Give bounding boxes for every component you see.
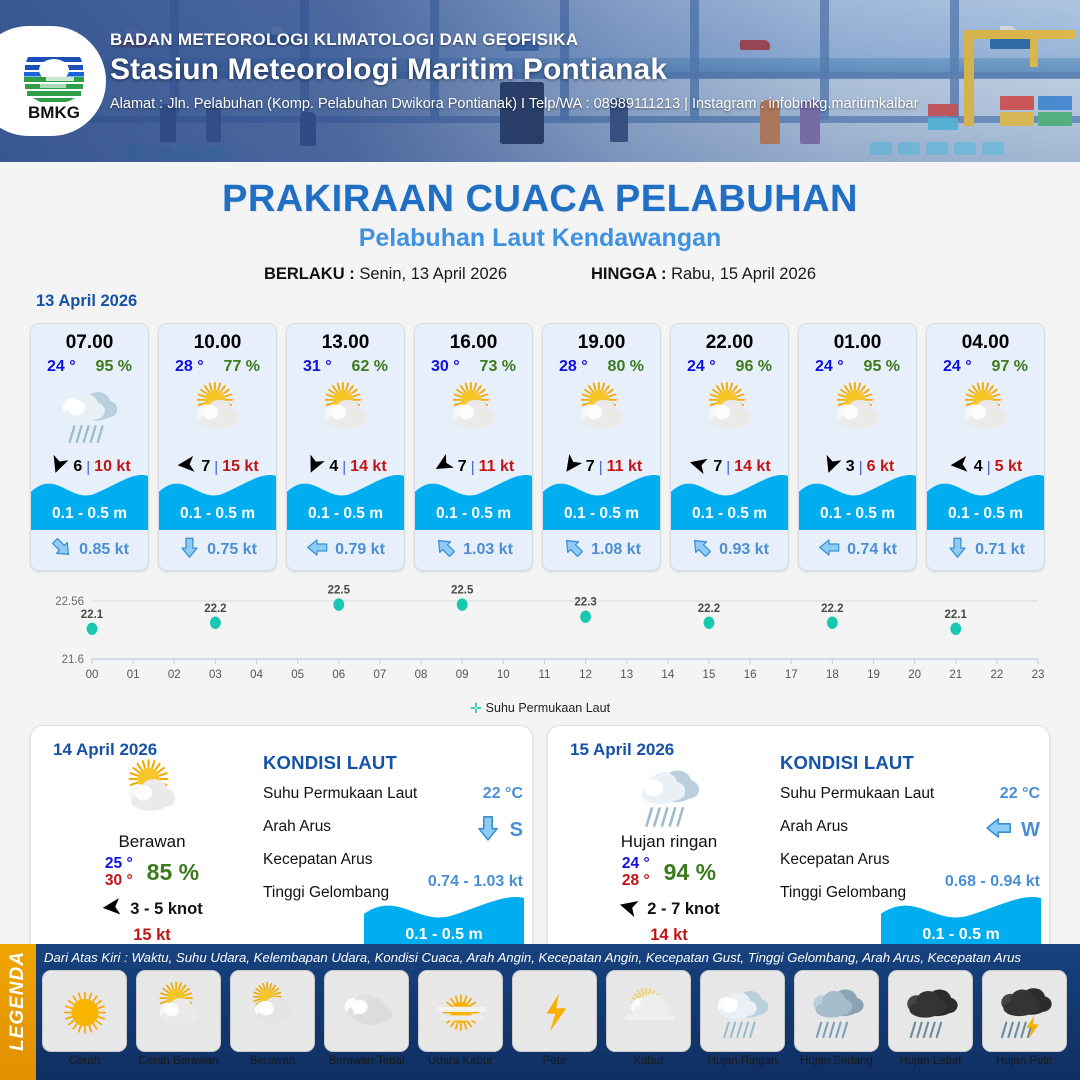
- legend-item-label: Udara Kabur: [418, 1055, 503, 1067]
- day-condition: Berawan: [47, 832, 257, 852]
- card-temperature: 24 °: [47, 358, 76, 376]
- sea-row-label: Arah Arus: [780, 818, 848, 835]
- sea-row-value: 22 °C: [483, 785, 523, 803]
- legend-item-icon: [700, 970, 785, 1052]
- svg-text:22.56: 22.56: [55, 596, 84, 608]
- day-wind: 3 - 5 knot: [47, 896, 257, 923]
- card-wave-height: 0.1 - 0.5 m: [927, 505, 1044, 523]
- card-current: 0.85 kt: [31, 536, 148, 564]
- day-wave-height: 0.1 - 0.5 m: [364, 926, 524, 944]
- sea-conditions-title: KONDISI LAUT: [263, 752, 525, 774]
- hingga-group: HINGGA : Rabu, 15 April 2026: [591, 265, 816, 284]
- legend-item-icon: [418, 970, 503, 1052]
- card-wave: 0.1 - 0.5 m: [415, 464, 532, 530]
- card-weather-icon: [543, 378, 660, 450]
- card-current: 0.79 kt: [287, 536, 404, 564]
- day-wave-block: 0.1 - 0.5 m: [364, 890, 524, 952]
- svg-text:22: 22: [990, 669, 1003, 681]
- legend-item: Berawan: [230, 970, 315, 1067]
- svg-text:04: 04: [250, 669, 263, 681]
- berlaku-value: Senin, 13 April 2026: [359, 265, 507, 283]
- card-weather-icon: [415, 378, 532, 450]
- day-weather-icon: [47, 762, 257, 828]
- card-current: 0.74 kt: [799, 536, 916, 564]
- current-direction-arrow-icon: [474, 814, 502, 847]
- card-wave: 0.1 - 0.5 m: [799, 464, 916, 530]
- legend-item-icon: [794, 970, 879, 1052]
- svg-text:18: 18: [826, 669, 839, 681]
- legend-item-icon: [606, 970, 691, 1052]
- card-current: 1.08 kt: [543, 536, 660, 564]
- chart-legend-marker-icon: ✛: [470, 700, 482, 717]
- forecast-card: 10.00 28 ° 77 % 7 | 15 kt 0.1 - 0.5 m: [158, 323, 277, 571]
- card-humidity: 96 %: [736, 358, 772, 376]
- legend-item: Hujan Petir: [982, 970, 1067, 1067]
- forecast-card: 07.00 24 ° 95 % 6 | 10 kt: [30, 323, 149, 571]
- card-time: 19.00: [543, 332, 660, 354]
- card-humidity: 62 %: [352, 358, 388, 376]
- legend-item: Berawan Tebal: [324, 970, 409, 1067]
- legend-item-label: Hujan Sedang: [794, 1055, 879, 1067]
- page-title: PRAKIRAAN CUACA PELABUHAN: [0, 178, 1080, 221]
- svg-text:22.1: 22.1: [945, 609, 968, 621]
- card-humidity: 80 %: [608, 358, 644, 376]
- card-temperature: 24 °: [815, 358, 844, 376]
- svg-text:22.5: 22.5: [451, 585, 474, 597]
- card-wave: 0.1 - 0.5 m: [927, 464, 1044, 530]
- sea-conditions-title: KONDISI LAUT: [780, 752, 1042, 774]
- svg-text:21.6: 21.6: [62, 654, 84, 666]
- card-time: 04.00: [927, 332, 1044, 354]
- title-block: PRAKIRAAN CUACA PELABUHAN Pelabuhan Laut…: [0, 178, 1080, 284]
- page-subtitle: Pelabuhan Laut Kendawangan: [0, 224, 1080, 253]
- day-gust: 14 kt: [564, 926, 774, 945]
- hingga-value: Rabu, 15 April 2026: [671, 265, 816, 283]
- legend-item-label: Petir: [512, 1055, 597, 1067]
- svg-text:23: 23: [1032, 669, 1045, 681]
- legend-item-label: Berawan: [230, 1055, 315, 1067]
- legend-item-label: Berawan Tebal: [324, 1055, 409, 1067]
- header-text-block: BADAN METEOROLOGI KLIMATOLOGI DAN GEOFIS…: [110, 30, 918, 112]
- current-direction-arrow-icon: [562, 536, 585, 564]
- legend-side-tab: LEGENDA: [0, 944, 36, 1080]
- card-wave: 0.1 - 0.5 m: [31, 464, 148, 530]
- legend-item: Petir: [512, 970, 597, 1067]
- card-wave: 0.1 - 0.5 m: [159, 464, 276, 530]
- legend-item-label: Hujan Ringan: [700, 1055, 785, 1067]
- current-direction-arrow-icon: [690, 536, 713, 564]
- svg-text:21: 21: [949, 669, 962, 681]
- svg-text:15: 15: [703, 669, 716, 681]
- card-current-speed: 0.71 kt: [975, 541, 1025, 559]
- legend-item: Hujan Ringan: [700, 970, 785, 1067]
- bmkg-logo-mark: BMKG: [16, 39, 92, 123]
- validity-row: BERLAKU : Senin, 13 April 2026 HINGGA : …: [0, 265, 1080, 284]
- card-values: 30 ° 73 %: [415, 358, 532, 376]
- legend-item: Kabut: [606, 970, 691, 1067]
- day-temp-humidity: 25 ° 30 ° 85 %: [47, 855, 257, 890]
- legend-item-icon: [230, 970, 315, 1052]
- card-wave-height: 0.1 - 0.5 m: [159, 505, 276, 523]
- card-time: 22.00: [671, 332, 788, 354]
- day-temps: 25 ° 30 °: [105, 855, 133, 890]
- card-time: 13.00: [287, 332, 404, 354]
- berlaku-group: BERLAKU : Senin, 13 April 2026: [264, 265, 507, 284]
- forecast-card: 19.00 28 ° 80 % 7 | 11 kt 0.1 - 0.5 m: [542, 323, 661, 571]
- svg-text:22.5: 22.5: [328, 585, 351, 597]
- chart-legend: ✛Suhu Permukaan Laut: [0, 700, 1080, 717]
- sea-row-current-direction: Arah Arus W: [780, 818, 1042, 840]
- card-current: 1.03 kt: [415, 536, 532, 564]
- card-temperature: 30 °: [431, 358, 460, 376]
- legend-item-icon: [888, 970, 973, 1052]
- card-weather-icon: [671, 378, 788, 450]
- card-values: 24 ° 95 %: [31, 358, 148, 376]
- card-weather-icon: [159, 378, 276, 450]
- day-forecast-panel: 15 April 2026 Hujan ringan 24 ° 28 ° 94 …: [547, 725, 1050, 967]
- card-current: 0.93 kt: [671, 536, 788, 564]
- day-wind-range: 2 - 7 knot: [647, 900, 719, 919]
- svg-text:22.2: 22.2: [204, 603, 226, 615]
- contact-line: Alamat : Jln. Pelabuhan (Komp. Pelabuhan…: [110, 96, 918, 112]
- legend-item: Udara Kabur: [418, 970, 503, 1067]
- legend-side-title: LEGENDA: [7, 947, 29, 1055]
- card-temperature: 24 °: [943, 358, 972, 376]
- sea-row-current-direction: Arah Arus S: [263, 818, 525, 840]
- forecast-card: 16.00 30 ° 73 % 7 | 11 kt 0.1 - 0.5 m: [414, 323, 533, 571]
- card-time: 07.00: [31, 332, 148, 354]
- sst-chart: 22.5621.60001020304050607080910111213141…: [30, 583, 1050, 698]
- sea-row-label: Suhu Permukaan Laut: [780, 785, 934, 802]
- legend-item-label: Hujan Lebat: [888, 1055, 973, 1067]
- day-wind-range: 3 - 5 knot: [130, 900, 202, 919]
- current-direction-group: S: [474, 814, 523, 847]
- card-temperature: 28 °: [559, 358, 588, 376]
- station-name: Stasiun Meteorologi Maritim Pontianak: [110, 53, 918, 87]
- current-direction-arrow-icon: [434, 536, 457, 564]
- card-humidity: 73 %: [480, 358, 516, 376]
- forecast-card: 13.00 31 ° 62 % 4 | 14 kt 0.1 - 0.5 m: [286, 323, 405, 571]
- card-values: 24 ° 96 %: [671, 358, 788, 376]
- legend-item: Hujan Sedang: [794, 970, 879, 1067]
- day-wave-height: 0.1 - 0.5 m: [881, 926, 1041, 944]
- sst-chart-svg: 22.5621.60001020304050607080910111213141…: [30, 583, 1050, 698]
- card-wave-height: 0.1 - 0.5 m: [799, 505, 916, 523]
- day-temp-max: 28 °: [622, 872, 650, 889]
- sea-conditions: KONDISI LAUT Suhu Permukaan Laut 22 °C A…: [780, 752, 1042, 906]
- sea-row-label: Kecepatan Arus: [780, 851, 889, 868]
- svg-text:22.1: 22.1: [81, 609, 104, 621]
- legend-item-label: Hujan Petir: [982, 1055, 1067, 1067]
- card-weather-icon: [31, 378, 148, 450]
- card-wave: 0.1 - 0.5 m: [671, 464, 788, 530]
- day-summary: Hujan ringan 24 ° 28 ° 94 % 2 - 7 knot 1…: [564, 762, 774, 945]
- sea-conditions: KONDISI LAUT Suhu Permukaan Laut 22 °C A…: [263, 752, 525, 906]
- svg-text:22.2: 22.2: [698, 603, 720, 615]
- svg-text:03: 03: [209, 669, 222, 681]
- card-current-speed: 0.79 kt: [335, 541, 385, 559]
- daily-forecast-row: 14 April 2026 Berawan 25 ° 30 ° 85 % 3 -: [0, 725, 1080, 967]
- hingga-label: HINGGA :: [591, 265, 666, 283]
- current-direction-arrow-icon: [985, 814, 1013, 847]
- chart-legend-label: Suhu Permukaan Laut: [486, 701, 610, 715]
- day-gust: 15 kt: [47, 926, 257, 945]
- sea-row-label: Arah Arus: [263, 818, 331, 835]
- card-time: 10.00: [159, 332, 276, 354]
- sea-row-value: 22 °C: [1000, 785, 1040, 803]
- day-temp-min: 24 °: [622, 855, 650, 872]
- legend-item: Cerah Berawan: [136, 970, 221, 1067]
- legend-item: Cerah: [42, 970, 127, 1067]
- current-direction-arrow-icon: [306, 536, 329, 564]
- legend-bar: LEGENDA Dari Atas Kiri : Waktu, Suhu Uda…: [0, 944, 1080, 1080]
- agency-name: BADAN METEOROLOGI KLIMATOLOGI DAN GEOFIS…: [110, 30, 918, 50]
- sea-row-sst: Suhu Permukaan Laut 22 °C: [263, 785, 525, 807]
- svg-text:01: 01: [127, 669, 140, 681]
- day-temp-humidity: 24 ° 28 ° 94 %: [564, 855, 774, 890]
- svg-text:BMKG: BMKG: [28, 103, 80, 122]
- card-wave-height: 0.1 - 0.5 m: [287, 505, 404, 523]
- card-current-speed: 1.03 kt: [463, 541, 513, 559]
- card-temperature: 31 °: [303, 358, 332, 376]
- card-values: 28 ° 80 %: [543, 358, 660, 376]
- svg-text:12: 12: [579, 669, 592, 681]
- svg-text:20: 20: [908, 669, 921, 681]
- legend-item-label: Kabut: [606, 1055, 691, 1067]
- card-values: 28 ° 77 %: [159, 358, 276, 376]
- day-weather-icon: [564, 762, 774, 828]
- svg-text:14: 14: [661, 669, 674, 681]
- svg-text:10: 10: [497, 669, 510, 681]
- card-time: 01.00: [799, 332, 916, 354]
- day-temp-min: 25 °: [105, 855, 133, 872]
- sea-row-sst: Suhu Permukaan Laut 22 °C: [780, 785, 1042, 807]
- svg-text:00: 00: [86, 669, 99, 681]
- card-weather-icon: [287, 378, 404, 450]
- current-direction-arrow-icon: [818, 536, 841, 564]
- svg-text:13: 13: [620, 669, 633, 681]
- svg-text:22.2: 22.2: [821, 603, 843, 615]
- hourly-forecast-row: 07.00 24 ° 95 % 6 | 10 kt: [0, 323, 1080, 571]
- sea-row-value: S: [510, 819, 523, 842]
- card-wave: 0.1 - 0.5 m: [543, 464, 660, 530]
- forecast-date-label: 13 April 2026: [36, 292, 1080, 311]
- card-wave-height: 0.1 - 0.5 m: [671, 505, 788, 523]
- svg-text:02: 02: [168, 669, 181, 681]
- card-humidity: 95 %: [96, 358, 132, 376]
- wind-direction-arrow-icon: [101, 896, 123, 923]
- card-current-speed: 0.74 kt: [847, 541, 897, 559]
- sea-row-current-speed: Kecepatan Arus 0.68 - 0.94 kt: [780, 851, 1042, 873]
- legend-item: Hujan Lebat: [888, 970, 973, 1067]
- legend-icon-row: Cerah Cerah Berawan Berawan: [42, 970, 1067, 1067]
- card-weather-icon: [927, 378, 1044, 450]
- legend-item-icon: [512, 970, 597, 1052]
- current-direction-arrow-icon: [50, 536, 73, 564]
- day-wave-block: 0.1 - 0.5 m: [881, 890, 1041, 952]
- day-temps: 24 ° 28 °: [622, 855, 650, 890]
- card-wave: 0.1 - 0.5 m: [287, 464, 404, 530]
- sea-row-current-speed: Kecepatan Arus 0.74 - 1.03 kt: [263, 851, 525, 873]
- svg-text:07: 07: [374, 669, 387, 681]
- card-humidity: 97 %: [992, 358, 1028, 376]
- card-humidity: 95 %: [864, 358, 900, 376]
- svg-text:09: 09: [456, 669, 469, 681]
- card-current-speed: 1.08 kt: [591, 541, 641, 559]
- svg-text:06: 06: [332, 669, 345, 681]
- legend-item-label: Cerah Berawan: [136, 1055, 221, 1067]
- legend-item-icon: [982, 970, 1067, 1052]
- legend-item-icon: [324, 970, 409, 1052]
- legend-item-icon: [42, 970, 127, 1052]
- wind-direction-arrow-icon: [618, 896, 640, 923]
- forecast-card: 04.00 24 ° 97 % 4 | 5 kt 0.1 - 0.5 m: [926, 323, 1045, 571]
- card-current-speed: 0.85 kt: [79, 541, 129, 559]
- sea-row-value: W: [1021, 819, 1040, 842]
- svg-text:08: 08: [415, 669, 428, 681]
- card-current: 0.71 kt: [927, 536, 1044, 564]
- card-current-speed: 0.75 kt: [207, 541, 257, 559]
- forecast-card: 01.00 24 ° 95 % 3 | 6 kt 0.1 - 0.5 m: [798, 323, 917, 571]
- sea-row-label: Suhu Permukaan Laut: [263, 785, 417, 802]
- sea-row-label: Kecepatan Arus: [263, 851, 372, 868]
- svg-text:16: 16: [744, 669, 757, 681]
- day-forecast-panel: 14 April 2026 Berawan 25 ° 30 ° 85 % 3 -: [30, 725, 533, 967]
- legend-note: Dari Atas Kiri : Waktu, Suhu Udara, Kele…: [44, 950, 1021, 965]
- current-direction-group: W: [985, 814, 1040, 847]
- day-humidity: 94 %: [664, 859, 716, 886]
- card-wave-height: 0.1 - 0.5 m: [31, 505, 148, 523]
- current-direction-arrow-icon: [946, 536, 969, 564]
- card-wave-height: 0.1 - 0.5 m: [543, 505, 660, 523]
- card-temperature: 24 °: [687, 358, 716, 376]
- berlaku-label: BERLAKU :: [264, 265, 355, 283]
- card-current-speed: 0.93 kt: [719, 541, 769, 559]
- forecast-card: 22.00 24 ° 96 % 7 | 14 kt 0.1 - 0.5 m: [670, 323, 789, 571]
- current-direction-arrow-icon: [178, 536, 201, 564]
- legend-item-label: Cerah: [42, 1055, 127, 1067]
- card-current: 0.75 kt: [159, 536, 276, 564]
- svg-text:11: 11: [538, 669, 550, 681]
- day-condition: Hujan ringan: [564, 832, 774, 852]
- card-wave-height: 0.1 - 0.5 m: [415, 505, 532, 523]
- card-humidity: 77 %: [224, 358, 260, 376]
- infographic-page: BMKG BADAN METEOROLOGI KLIMATOLOGI DAN G…: [0, 0, 1080, 1080]
- card-weather-icon: [799, 378, 916, 450]
- day-summary: Berawan 25 ° 30 ° 85 % 3 - 5 knot 15 kt: [47, 762, 257, 945]
- card-time: 16.00: [415, 332, 532, 354]
- header-banner: BMKG BADAN METEOROLOGI KLIMATOLOGI DAN G…: [0, 0, 1080, 162]
- svg-text:19: 19: [867, 669, 880, 681]
- svg-text:17: 17: [785, 669, 798, 681]
- bmkg-logo: BMKG: [0, 26, 106, 136]
- svg-text:22.3: 22.3: [574, 597, 596, 609]
- day-wind: 2 - 7 knot: [564, 896, 774, 923]
- legend-item-icon: [136, 970, 221, 1052]
- day-temp-max: 30 °: [105, 872, 133, 889]
- day-humidity: 85 %: [147, 859, 199, 886]
- card-temperature: 28 °: [175, 358, 204, 376]
- card-values: 24 ° 97 %: [927, 358, 1044, 376]
- card-values: 31 ° 62 %: [287, 358, 404, 376]
- card-values: 24 ° 95 %: [799, 358, 916, 376]
- svg-text:05: 05: [291, 669, 304, 681]
